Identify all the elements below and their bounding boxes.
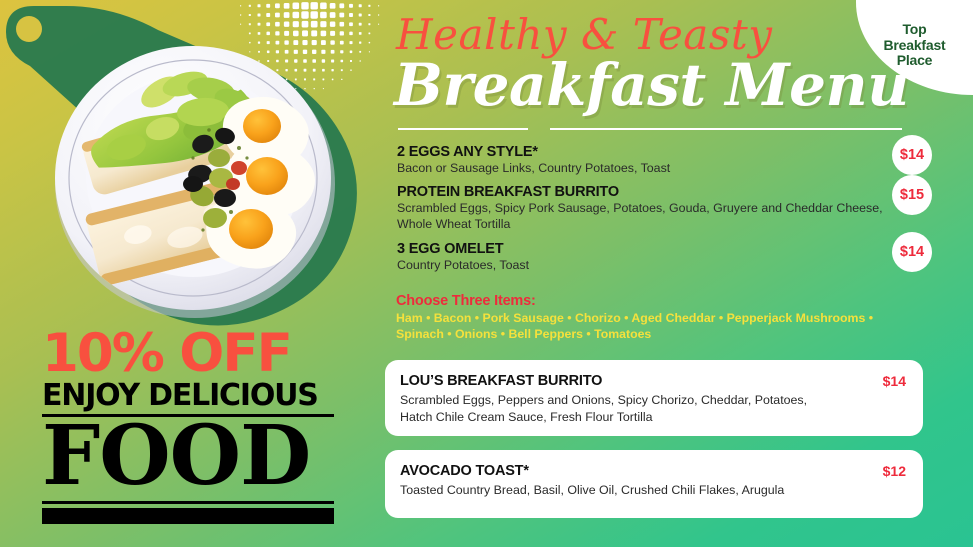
- item-description: Scrambled Eggs, Spicy Pork Sausage, Pota…: [397, 201, 897, 233]
- title-divider-right: [550, 128, 902, 130]
- item-price: $14: [892, 135, 932, 175]
- item-description: Country Potatoes, Toast: [397, 258, 897, 274]
- list-item[interactable]: 2 EGGS ANY STYLE* Bacon or Sausage Links…: [397, 143, 907, 177]
- promo-discount: 10% OFF: [42, 330, 342, 379]
- menu-card[interactable]: LOU’S BREAKFAST BURRITO Scrambled Eggs, …: [385, 360, 923, 436]
- page-title: Breakfast Menu: [394, 56, 909, 114]
- menu-poster: Healthy & Teasty Breakfast Menu Top Brea…: [0, 0, 973, 547]
- item-description: Toasted Country Bread, Basil, Olive Oil,…: [400, 482, 840, 498]
- item-price: $14: [892, 232, 932, 272]
- choose-heading: Choose Three Items:: [396, 293, 916, 309]
- breakfast-plate-photo: [43, 26, 343, 326]
- item-price: $14: [883, 373, 906, 389]
- title-divider-left: [398, 128, 528, 130]
- choose-three-items: Choose Three Items: Ham • Bacon • Pork S…: [396, 293, 916, 343]
- item-name: LOU’S BREAKFAST BURRITO: [400, 373, 906, 390]
- item-name: 3 EGG OMELET: [397, 240, 907, 258]
- list-item[interactable]: 3 EGG OMELET Country Potatoes, Toast $14: [397, 240, 907, 274]
- item-description: Scrambled Eggs, Peppers and Onions, Spic…: [400, 392, 840, 424]
- promo-line-3: FOOD: [42, 419, 342, 494]
- promo-block: 10% OFF ENJOY DELICIOUS FOOD: [42, 330, 342, 524]
- list-item[interactable]: PROTEIN BREAKFAST BURRITO Scrambled Eggs…: [397, 183, 907, 233]
- poster-subtitle: Healthy & Teasty: [396, 14, 773, 56]
- item-name: PROTEIN BREAKFAST BURRITO: [397, 183, 907, 201]
- menu-card[interactable]: AVOCADO TOAST* Toasted Country Bread, Ba…: [385, 450, 923, 518]
- item-name: AVOCADO TOAST*: [400, 463, 906, 480]
- item-description: Bacon or Sausage Links, Country Potatoes…: [397, 161, 897, 177]
- item-name: 2 EGGS ANY STYLE*: [397, 143, 907, 161]
- promo-divider-3: [42, 508, 334, 524]
- item-price: $15: [892, 175, 932, 215]
- promo-line-2: ENJOY DELICIOUS: [42, 381, 342, 412]
- badge-label: Top Breakfast Place: [883, 22, 945, 73]
- menu-list: 2 EGGS ANY STYLE* Bacon or Sausage Links…: [397, 143, 907, 274]
- item-price: $12: [883, 463, 906, 479]
- choose-options: Ham • Bacon • Pork Sausage • Chorizo • A…: [396, 310, 908, 343]
